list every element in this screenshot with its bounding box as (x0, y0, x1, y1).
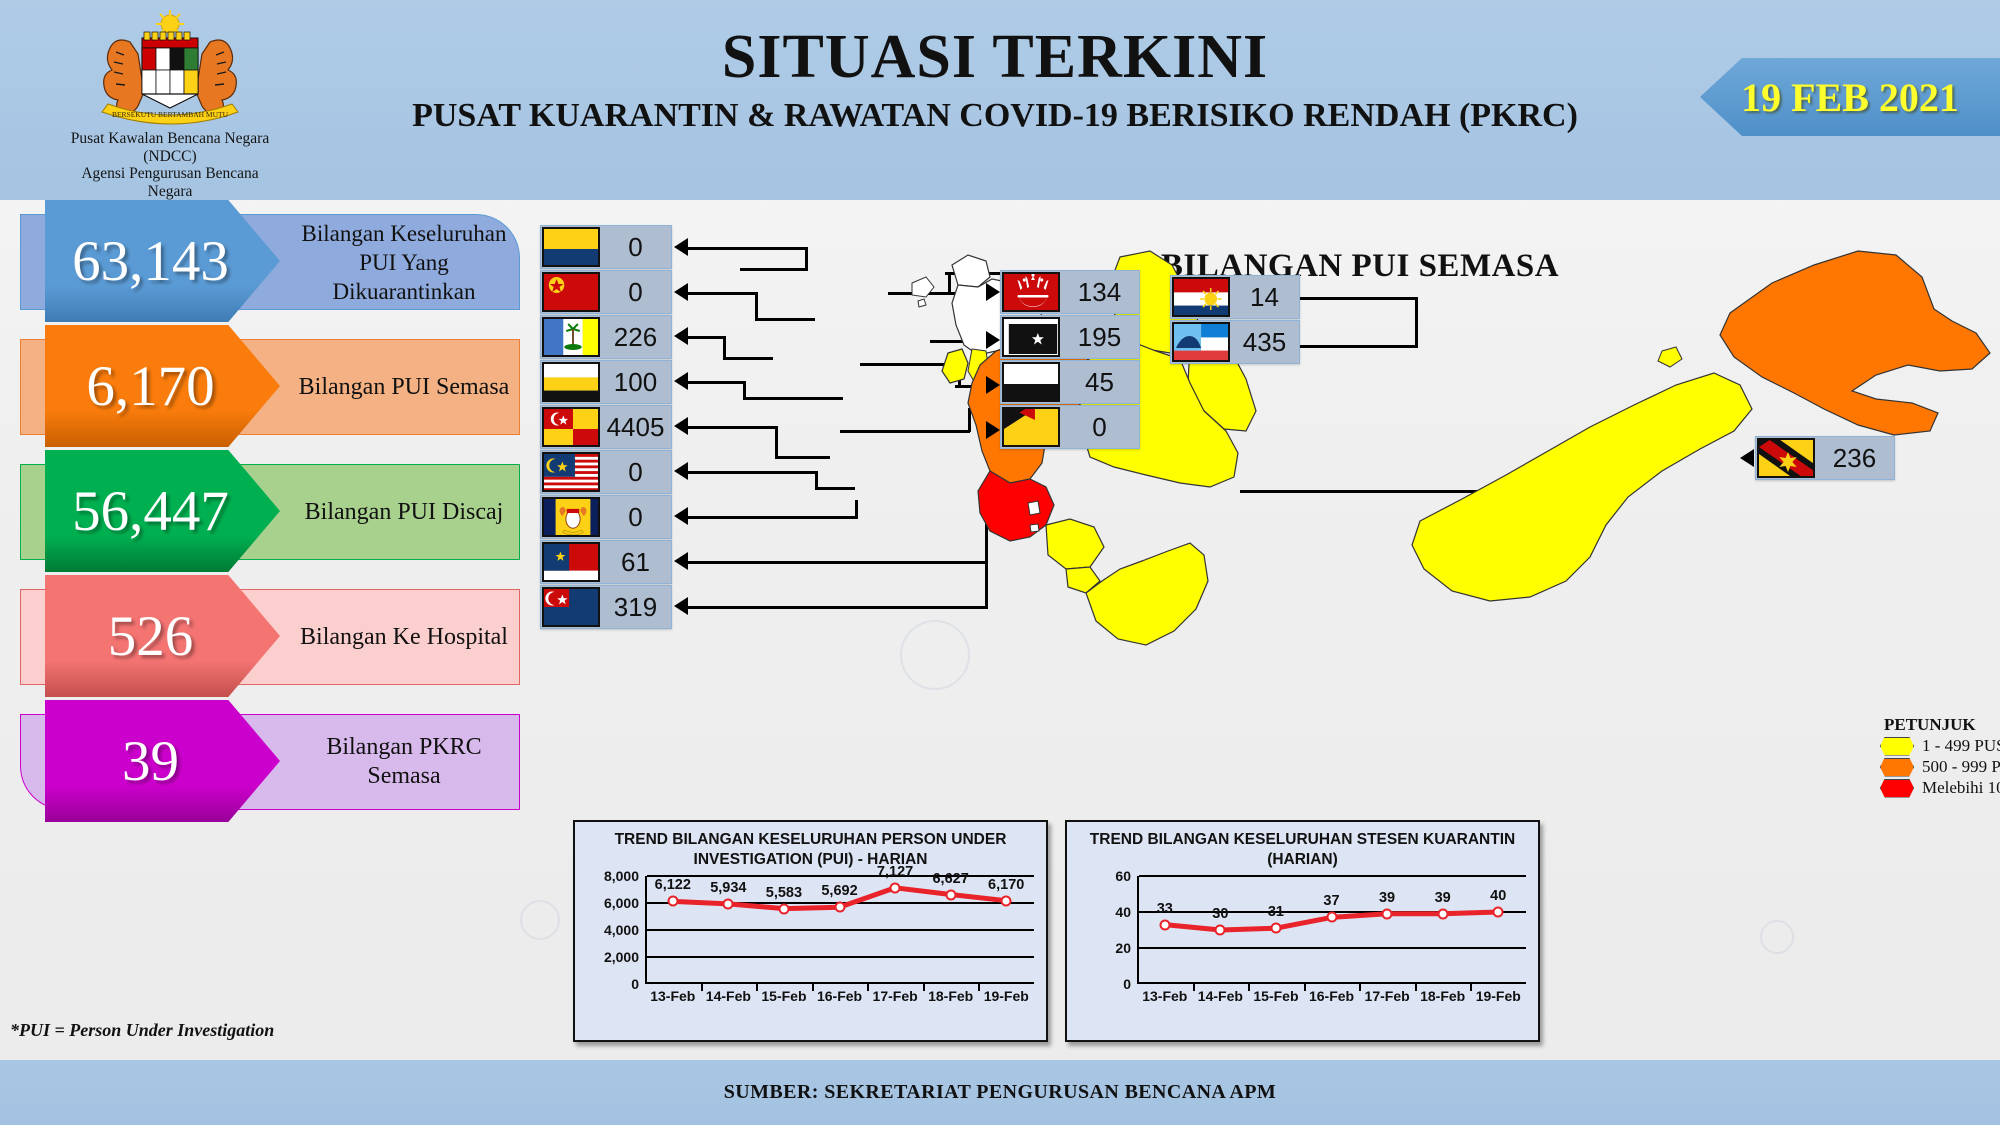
state-chip: 0 (540, 225, 672, 269)
state-chip-value: 61 (600, 547, 671, 578)
flag-putrajaya-icon (542, 497, 600, 537)
state-chip-value: 0 (600, 232, 671, 263)
chart-pui-harian: TREND BILANGAN KESELURUHAN PERSON UNDER … (573, 820, 1048, 1042)
chart-x-tick-label: 15-Feb (756, 988, 812, 1012)
chart-stesen-kuarantin: TREND BILANGAN KESELURUHAN STESEN KUARAN… (1065, 820, 1540, 1042)
stat-label: Bilangan PUI Discaj (290, 464, 518, 560)
chart-data-point (1437, 908, 1448, 919)
chart-x-tickmark (1193, 984, 1195, 991)
state-chip: 0 (1000, 405, 1140, 449)
legend-item-label: Melebihi 1000 PUS (1922, 778, 2000, 798)
page-subtitle: PUSAT KUARANTIN & RAWATAN COVID-19 BERIS… (330, 97, 1660, 135)
chart-y-tick-label: 40 (1115, 904, 1131, 920)
state-chip: 319 (540, 585, 672, 629)
chart-x-tick-label: 18-Feb (1415, 988, 1471, 1012)
flag-kedah-icon (542, 272, 600, 312)
chart-y-tick-label: 6,000 (604, 895, 639, 911)
chart-x-tickmark (1248, 984, 1250, 991)
legend-item-label: 1 - 499 PUS (1922, 736, 2000, 756)
chart-data-label: 6,170 (988, 877, 1024, 893)
flag-sabah-icon (1172, 322, 1230, 362)
arrow-head-icon (674, 238, 688, 256)
chart-x-tick-label: 15-Feb (1248, 988, 1304, 1012)
legend-title: PETUNJUK (1884, 715, 2000, 735)
chart-y-tick-label: 8,000 (604, 868, 639, 884)
header-title-block: SITUASI TERKINI PUSAT KUARANTIN & RAWATA… (330, 22, 1660, 135)
svg-text:BERSEKUTU BERTAMBAH MUTU: BERSEKUTU BERTAMBAH MUTU (112, 110, 229, 119)
infographic-root: BERSEKUTU BERTAMBAH MUTU Pusat Kawalan B… (0, 0, 2000, 1125)
chart-data-point (1326, 912, 1337, 923)
chart-x-tickmark (756, 984, 758, 991)
state-chip: 0 (540, 270, 672, 314)
chart-data-point (1159, 919, 1170, 930)
flag-kualalumpur-icon (542, 452, 600, 492)
state-chip: 226 (540, 315, 672, 359)
page-title: SITUASI TERKINI (330, 22, 1660, 93)
state-chip-value: 236 (1815, 443, 1894, 474)
arrow-head-icon (674, 417, 688, 435)
chart-data-point (1382, 908, 1393, 919)
chart-y-tick-label: 20 (1115, 940, 1131, 956)
chart-y-tick-label: 60 (1115, 868, 1131, 884)
flag-negerisembilan-icon (542, 542, 600, 582)
legend-item: Melebihi 1000 PUS (1880, 778, 2000, 798)
malaysia-map (690, 225, 2000, 785)
chart-x-tickmark (923, 984, 925, 991)
map-region-penang (942, 349, 968, 383)
chart-data-point (667, 896, 678, 907)
state-chip-value: 0 (1060, 412, 1139, 443)
arrow-head-icon (674, 507, 688, 525)
map-region-perlis (952, 255, 990, 287)
chart-x-tick-label: 19-Feb (1470, 988, 1526, 1012)
map-region-sabah (1720, 251, 1990, 435)
flag-johor-icon (542, 587, 600, 627)
jata-negara-crest: BERSEKUTU BERTAMBAH MUTU Pusat Kawalan B… (60, 8, 280, 193)
chart-x-tickmark (1359, 984, 1361, 991)
chart-y-tick-label: 4,000 (604, 922, 639, 938)
chart-x-tick-label: 16-Feb (1304, 988, 1360, 1012)
page-footer: SUMBER: SEKRETARIAT PENGURUSAN BENCANA A… (0, 1060, 2000, 1125)
chart-data-point (945, 889, 956, 900)
arrow-head-icon (986, 331, 1000, 349)
state-chip-value: 319 (600, 592, 671, 623)
crest-caption-line-1: Pusat Kawalan Bencana Negara (NDCC) (60, 130, 280, 165)
flag-pahang-icon (1002, 362, 1060, 402)
chart-data-point (1001, 895, 1012, 906)
arrow-head-icon (674, 327, 688, 345)
chart-x-tickmark (812, 984, 814, 991)
footnote: *PUI = Person Under Investigation (10, 1020, 274, 1041)
chart-data-label: 33 (1157, 901, 1173, 917)
state-chip-value: 100 (600, 367, 671, 398)
statistics-panel: 63,143Bilangan Keseluruhan PUI Yang Diku… (0, 200, 540, 1010)
chart-x-labels: 13-Feb14-Feb15-Feb16-Feb17-Feb18-Feb19-F… (1137, 988, 1526, 1012)
chart-data-point (1215, 925, 1226, 936)
chart-x-tick-label: 14-Feb (701, 988, 757, 1012)
flag-kelantan-icon (1002, 272, 1060, 312)
legend-item-label: 500 - 999 PUS (1922, 757, 2000, 777)
state-chip-value: 0 (600, 502, 671, 533)
arrow-head-icon (674, 372, 688, 390)
chart-data-label: 5,692 (821, 883, 857, 899)
chart-data-label: 37 (1323, 893, 1339, 909)
date-badge: 19 FEB 2021 (1700, 58, 2000, 136)
state-chip-value: 14 (1230, 282, 1299, 313)
chart-data-label: 6,627 (932, 871, 968, 887)
chart-data-label: 6,122 (655, 877, 691, 893)
flag-penang-icon (542, 317, 600, 357)
state-chip-value: 195 (1060, 322, 1139, 353)
chart-y-axis: 02,0004,0006,0008,000 (587, 876, 645, 984)
state-chip: 45 (1000, 360, 1140, 404)
chart-title: TREND BILANGAN KESELURUHAN PERSON UNDER … (575, 822, 1046, 870)
flag-selangor-icon (542, 407, 600, 447)
state-chip: 435 (1170, 320, 1300, 364)
chart-x-tickmark (1470, 984, 1472, 991)
legend-rows: 1 - 499 PUS500 - 999 PUSMelebihi 1000 PU… (1880, 736, 2000, 798)
chart-x-tick-label: 16-Feb (812, 988, 868, 1012)
map-region-selangor (978, 471, 1054, 541)
chart-x-tickmark (1304, 984, 1306, 991)
arrow-head-icon (986, 376, 1000, 394)
map-legend: PETUNJUK 1 - 499 PUS500 - 999 PUSMelebih… (1880, 715, 2000, 798)
chart-x-tick-label: 17-Feb (867, 988, 923, 1012)
chart-data-label: 30 (1212, 906, 1228, 922)
state-chip-value: 134 (1060, 277, 1139, 308)
arrow-head-icon (986, 421, 1000, 439)
date-badge-label: 19 FEB 2021 (1741, 74, 1959, 121)
page-header: BERSEKUTU BERTAMBAH MUTU Pusat Kawalan B… (0, 0, 2000, 200)
chart-x-tickmark (1415, 984, 1417, 991)
state-chip: 61 (540, 540, 672, 584)
state-chip-value: 0 (600, 277, 671, 308)
legend-swatch-icon (1880, 737, 1914, 756)
stat-label: Bilangan Ke Hospital (290, 589, 518, 685)
chart-x-tickmark (978, 984, 980, 991)
chart-data-label: 31 (1268, 904, 1284, 920)
chart-y-tick-label: 0 (1123, 976, 1131, 992)
arrow-head-icon (674, 552, 688, 570)
state-chip: 14 (1170, 275, 1300, 319)
flag-melaka-icon (1002, 407, 1060, 447)
map-region-negerisembilan (1046, 519, 1104, 569)
chart-data-point (1493, 907, 1504, 918)
chart-data-label: 39 (1379, 890, 1395, 906)
flag-sarawak-icon (1757, 438, 1815, 478)
flag-perlis-icon (542, 227, 600, 267)
flag-terengganu-icon (1002, 317, 1060, 357)
chart-data-point (778, 903, 789, 914)
stat-value: 6,170 (86, 354, 214, 419)
chart-x-tick-label: 17-Feb (1359, 988, 1415, 1012)
state-chip: 195 (1000, 315, 1140, 359)
stat-label: Bilangan PUI Semasa (290, 339, 518, 435)
state-chip-value: 226 (600, 322, 671, 353)
chart-x-tick-label: 18-Feb (923, 988, 979, 1012)
state-chip-value: 4405 (600, 412, 671, 443)
stat-label: Bilangan Keseluruhan PUI Yang Dikuaranti… (290, 214, 518, 310)
chart-title: TREND BILANGAN KESELURUHAN STESEN KUARAN… (1067, 822, 1538, 870)
arrow-head-icon (986, 283, 1000, 301)
chart-data-label: 7,127 (877, 864, 913, 880)
map-region-johor (1086, 543, 1208, 645)
legend-swatch-icon (1880, 758, 1914, 777)
chart-y-axis: 0204060 (1079, 876, 1137, 984)
chart-data-label: 5,934 (710, 880, 746, 896)
chart-plot-area: 0204060 13-Feb14-Feb15-Feb16-Feb17-Feb18… (1079, 876, 1526, 1014)
stat-value: 63,143 (72, 229, 229, 294)
chart-x-labels: 13-Feb14-Feb15-Feb16-Feb17-Feb18-Feb19-F… (645, 988, 1034, 1012)
chart-data-point (1270, 923, 1281, 934)
legend-item: 1 - 499 PUS (1880, 736, 2000, 756)
chart-data-point (723, 898, 734, 909)
state-chip: 100 (540, 360, 672, 404)
flag-perak-icon (542, 362, 600, 402)
chart-plot-area: 02,0004,0006,0008,000 13-Feb14-Feb15-Feb… (587, 876, 1034, 1014)
chart-x-tick-label: 19-Feb (978, 988, 1034, 1012)
chart-x-tick-label: 13-Feb (1137, 988, 1193, 1012)
chart-data-label: 5,583 (766, 885, 802, 901)
coat-of-arms-icon: BERSEKUTU BERTAMBAH MUTU (80, 8, 260, 128)
legend-swatch-icon (1880, 779, 1914, 798)
state-chip: 236 (1755, 436, 1895, 480)
state-chip: 0 (540, 495, 672, 539)
legend-item: 500 - 999 PUS (1880, 757, 2000, 777)
map-region-sarawak (1412, 373, 1752, 601)
chart-x-tickmark (701, 984, 703, 991)
chart-data-label: 39 (1435, 890, 1451, 906)
state-chip: 4405 (540, 405, 672, 449)
chart-x-tickmark (867, 984, 869, 991)
stat-label: Bilangan PKRC Semasa (290, 714, 518, 810)
footer-source: SUMBER: SEKRETARIAT PENGURUSAN BENCANA A… (724, 1081, 1276, 1104)
state-chip-value: 0 (600, 457, 671, 488)
arrow-head-icon (674, 283, 688, 301)
chart-data-point (890, 882, 901, 893)
arrow-head-icon (674, 462, 688, 480)
chart-x-tick-label: 13-Feb (645, 988, 701, 1012)
chart-y-tick-label: 2,000 (604, 949, 639, 965)
state-chip: 0 (540, 450, 672, 494)
arrow-head-icon (674, 597, 688, 615)
stat-value: 526 (108, 604, 194, 669)
crest-caption: Pusat Kawalan Bencana Negara (NDCC) Agen… (60, 130, 280, 200)
flag-labuan-icon (1172, 277, 1230, 317)
state-chip-value: 435 (1230, 327, 1299, 358)
crest-caption-line-2: Agensi Pengurusan Bencana Negara (60, 165, 280, 200)
state-chip: 134 (1000, 270, 1140, 314)
chart-x-tick-label: 14-Feb (1193, 988, 1249, 1012)
stat-value: 39 (122, 729, 179, 794)
chart-series-line (1137, 876, 1526, 984)
stat-value: 56,447 (72, 479, 229, 544)
arrow-head-icon (1740, 449, 1754, 467)
chart-data-label: 40 (1490, 888, 1506, 904)
chart-y-tick-label: 0 (631, 976, 639, 992)
state-chip-value: 45 (1060, 367, 1139, 398)
chart-data-point (834, 902, 845, 913)
